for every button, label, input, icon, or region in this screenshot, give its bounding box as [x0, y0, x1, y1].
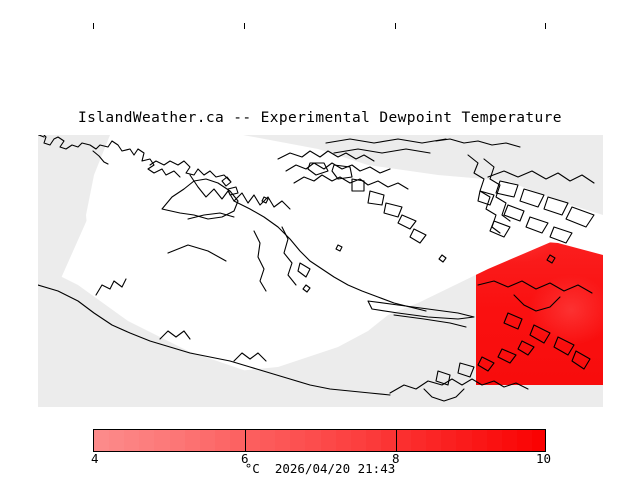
coast-se-island-4 [498, 349, 516, 363]
coast-se-island-3 [478, 357, 494, 371]
colorbar-segment [215, 430, 231, 451]
colorbar-segment [139, 430, 155, 451]
colorbar-segment [366, 430, 382, 451]
colorbar-segment [185, 430, 201, 451]
colorbar-segment [441, 430, 457, 451]
coast-lower-right-mainland [478, 281, 592, 293]
coast-lower-right-isle-3 [554, 337, 574, 355]
colorbar-divider-6 [245, 430, 246, 452]
coast-lower-right-tip [572, 351, 590, 369]
colorbar-segment [200, 430, 216, 451]
colorbar-segment [381, 430, 397, 451]
coast-se-island-5 [518, 341, 534, 355]
colorbar-segment [245, 430, 261, 451]
colorbar-segment [230, 430, 246, 451]
colorbar-segment [426, 430, 442, 451]
coast-lower-right-isle-1 [504, 313, 522, 329]
colorbar-divider-8 [396, 430, 397, 452]
colorbar-segment [532, 430, 546, 451]
colorbar-segment [396, 430, 412, 451]
colorbar-segment [487, 430, 503, 451]
coast-se-bay [424, 389, 464, 401]
colorbar[interactable] [93, 429, 546, 452]
colorbar-segment [517, 430, 533, 451]
colorbar-segment [472, 430, 488, 451]
coast-fleck-5 [547, 255, 555, 263]
colorbar-segment [305, 430, 321, 451]
colorbar-units-timestamp-label: °C 2026/04/20 21:43 [0, 462, 640, 476]
colorbar-tick-stub-10 [545, 23, 546, 29]
colorbar-segment [456, 430, 472, 451]
colorbar-segment [154, 430, 170, 451]
colorbar-tick-stub-4 [93, 23, 94, 29]
colorbar-tick-stub-8 [395, 23, 396, 29]
map-panel[interactable] [38, 135, 603, 407]
colorbar-gradient [93, 429, 546, 452]
coast-se-island-2 [458, 363, 474, 377]
colorbar-segment [290, 430, 306, 451]
colorbar-segment [170, 430, 186, 451]
colorbar-segment [351, 430, 367, 451]
page-title: IslandWeather.ca -- Experimental Dewpoin… [0, 110, 640, 126]
colorbar-segment [411, 430, 427, 451]
colorbar-segment [275, 430, 291, 451]
colorbar-segment [260, 430, 276, 451]
colorbar-tick-stub-6 [244, 23, 245, 29]
colorbar-segment [109, 430, 125, 451]
colorbar-segment [336, 430, 352, 451]
colorbar-segment [94, 430, 110, 451]
coast-lower-right-isle-2 [530, 325, 550, 343]
colorbar-segment [321, 430, 337, 451]
colorbar-segment [502, 430, 518, 451]
coast-se-island-1 [436, 371, 450, 385]
coast-lower-right-bay [514, 295, 560, 311]
coast-se-peninsula [390, 379, 528, 393]
colorbar-segment [124, 430, 140, 451]
coastline-map [38, 135, 603, 407]
